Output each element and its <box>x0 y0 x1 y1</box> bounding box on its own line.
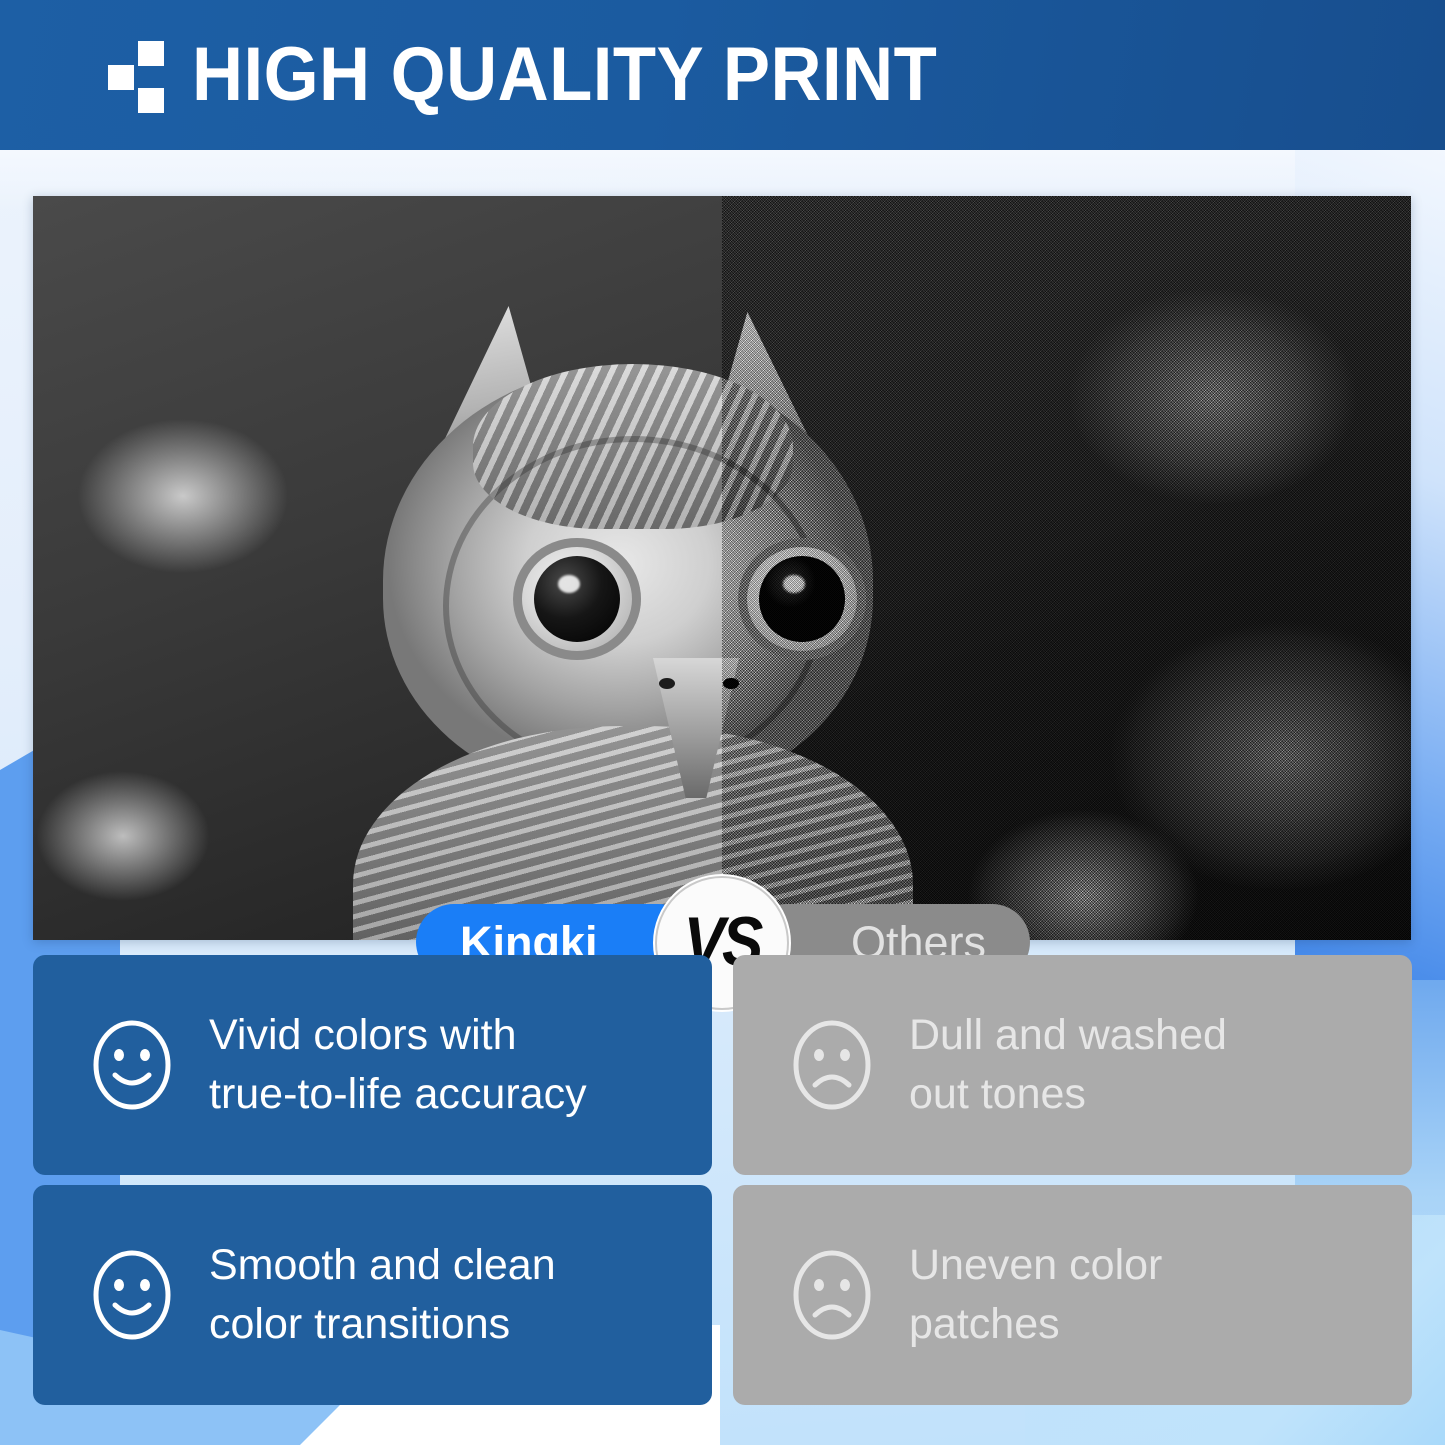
photo-half-others <box>722 196 1411 940</box>
photo-half-kingkj <box>33 196 722 940</box>
frowny-face-icon <box>791 1249 873 1341</box>
owl-nostril-left <box>659 678 675 689</box>
feature-card-text: Smooth and clean color transitions <box>209 1236 556 1355</box>
comparison-photo <box>33 196 1411 940</box>
owl-eye-left <box>513 538 641 660</box>
smiley-face-icon <box>91 1019 173 1111</box>
feature-card-bad-1[interactable]: Dull and washed out tones <box>733 955 1412 1175</box>
three-squares-logo-icon <box>108 41 164 113</box>
feature-card-text: Vivid colors with true-to-life accuracy <box>209 1006 587 1125</box>
frowny-face-icon <box>791 1019 873 1111</box>
owl-illustration-grainy <box>722 306 943 940</box>
feature-card-text: Uneven color patches <box>909 1236 1162 1355</box>
feature-card-good-1[interactable]: Vivid colors with true-to-life accuracy <box>33 955 712 1175</box>
smiley-face-icon <box>91 1249 173 1341</box>
promo-graphic: HIGH QUALITY PRINT <box>0 0 1445 1445</box>
owl-illustration <box>323 306 722 940</box>
feature-card-text: Dull and washed out tones <box>909 1006 1227 1125</box>
feature-card-bad-2[interactable]: Uneven color patches <box>733 1185 1412 1405</box>
owl-scene-grainy <box>722 196 1411 940</box>
feature-card-good-2[interactable]: Smooth and clean color transitions <box>33 1185 712 1405</box>
header-bar: HIGH QUALITY PRINT <box>0 0 1445 150</box>
page-title: HIGH QUALITY PRINT <box>192 37 937 113</box>
owl-scene-smooth <box>33 196 722 940</box>
